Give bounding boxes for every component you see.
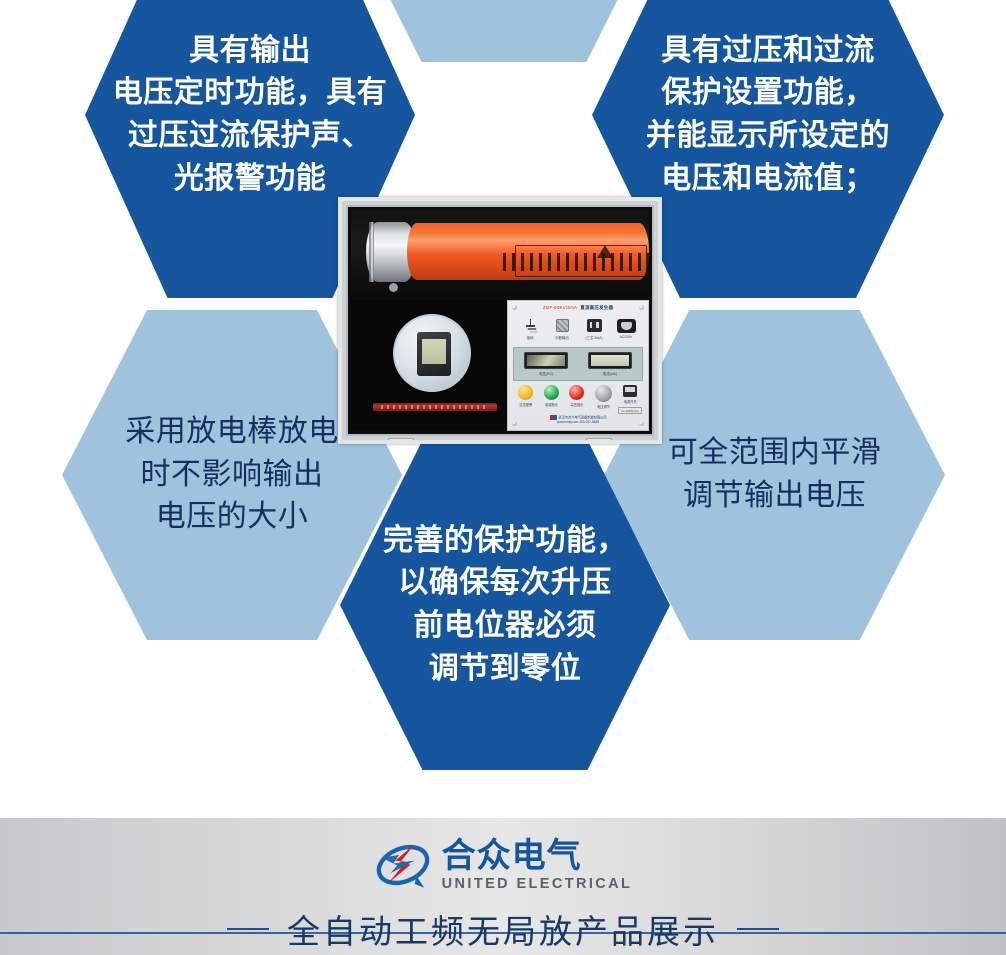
panel-jack-interrupt: 中断输出 [551,317,573,340]
feature-text-top-right: 具有过压和过流 保护设置功能， 并能显示所设定的 电压和电流值； [646,30,890,200]
rocker-switch-icon[interactable] [623,385,637,397]
high-voltage-warning-icon [597,245,613,258]
panel-jack-label: AC220V [615,335,637,339]
product-feature-infographic: 电压和电流 具有输出 电压定时功能，具有 过压过流保护声、 光报警功能 具有过压… [0,0,1006,955]
meter-face [417,332,451,376]
brand-name-en: UNITED ELECTRICAL [442,877,633,892]
brand-name-cn: 合众电气 [442,839,633,873]
power-indicator-lamp: 电源指示 [541,385,561,407]
feature-hex-top-center: 电压和电流 [339,0,669,62]
panel-jack-label: 中断输出 [551,335,573,340]
control-label: 电源开关 [620,399,640,404]
manufacturer-logo-icon [550,415,557,420]
hv-column-text-marks [503,253,649,271]
brand-lockup: 合众电气 UNITED ELECTRICAL [0,835,1006,895]
hv-column [407,223,649,280]
feature-text-top-left: 具有输出 电压定时功能，具有 过压过流保护声、 光报警功能 [113,30,388,200]
panel-title-cn: 直流高压发生器 [580,305,613,310]
panel-serial-badge: No.2018xxxxx [618,407,642,414]
panel-jack-row: 接地 中断输出 (三芯 2mA) AC220V [514,317,642,345]
lamp-icon-green [544,385,559,400]
feature-text-bottom-center: 完善的保护功能， 以确保每次升压 前电位器必须 调节到零位 [383,520,627,690]
control-label: 电压调节 [593,404,615,409]
product-photo: ZGF-60KV/2mA直流高压发生器 接地 中断输出 (三芯 2mA) [338,197,662,444]
lamp-icon-red [569,385,584,400]
current-meter-label: 电流(mA) [588,371,632,376]
control-label: 高压指示 [567,402,587,407]
lamp-icon-yellow [518,385,533,400]
manufacturer-contact: www.hzdq.com 400-027-8848 [557,420,599,424]
title-dash-left-icon [227,928,269,930]
voltage-meter-label: 电压(KV) [524,371,568,376]
voltage-adjust-knob[interactable]: 电压调节 [593,385,615,409]
panel-manufacturer: 武汉市合众电气设备制造有限公司 www.hzdq.com 400-027-884… [508,415,648,424]
voltage-meter: 电压(KV) [524,352,568,376]
control-label: 电源指示 [541,402,561,407]
panel-model: ZGF-60KV/2mA [543,305,577,310]
voltage-meter-display [524,352,568,369]
meter-lcd-screen [422,339,446,364]
control-label: 过压报警 [516,402,536,407]
manufacturer-name: 武汉市合众电气设备制造有限公司 [559,415,607,419]
hv-indicator-lamp: 高压指示 [567,385,587,407]
brand-words: 合众电气 UNITED ELECTRICAL [442,839,633,892]
panel-jack-mains: AC220V [615,317,637,339]
power-switch[interactable]: 电源开关 [620,385,640,404]
ground-icon [519,317,541,334]
control-panel: ZGF-60KV/2mA直流高压发生器 接地 中断输出 (三芯 2mA) [507,300,649,431]
accessory-bay [351,300,517,431]
iec-inlet-icon [615,317,637,334]
company-logo-icon [374,838,432,892]
column-mount-knob [389,283,398,292]
panel-jack-label: (三芯 2mA) [583,335,605,340]
current-meter: 电流(mA) [588,352,632,376]
panel-jack-ground: 接地 [519,317,541,340]
footer-title: 全自动工频无局放产品展示 [287,905,719,953]
overvoltage-alarm-lamp: 过压报警 [516,385,536,407]
footer-band: 合众电气 UNITED ELECTRICAL 全自动工频无局放产品展示 [0,818,1006,955]
current-meter-display [588,352,632,369]
case-latch-right [586,438,612,444]
knob-icon[interactable] [595,385,612,402]
outlet-icon [583,317,605,334]
fan-icon [551,317,573,334]
panel-model-title: ZGF-60KV/2mA直流高压发生器 [508,305,648,311]
upper-foam-bay [351,210,649,296]
feature-text-mid-left: 采用放电棒放电 时不影响输出 电压的大小 [125,411,339,539]
handheld-meter [393,314,471,392]
case-interior: ZGF-60KV/2mA直流高压发生器 接地 中断输出 (三芯 2mA) [346,205,654,436]
case-latch-left [388,438,414,444]
panel-meter-band: 电压(KV) 电流(mA) [513,347,643,381]
panel-jack-label: 接地 [519,335,541,340]
footer-title-row: 全自动工频无局放产品展示 [0,904,1006,954]
discharge-rod [373,403,497,411]
feature-text-mid-right: 可全范围内平滑 调节输出电压 [668,432,882,517]
title-dash-right-icon [737,928,779,930]
panel-jack-output: (三芯 2mA) [583,317,605,340]
